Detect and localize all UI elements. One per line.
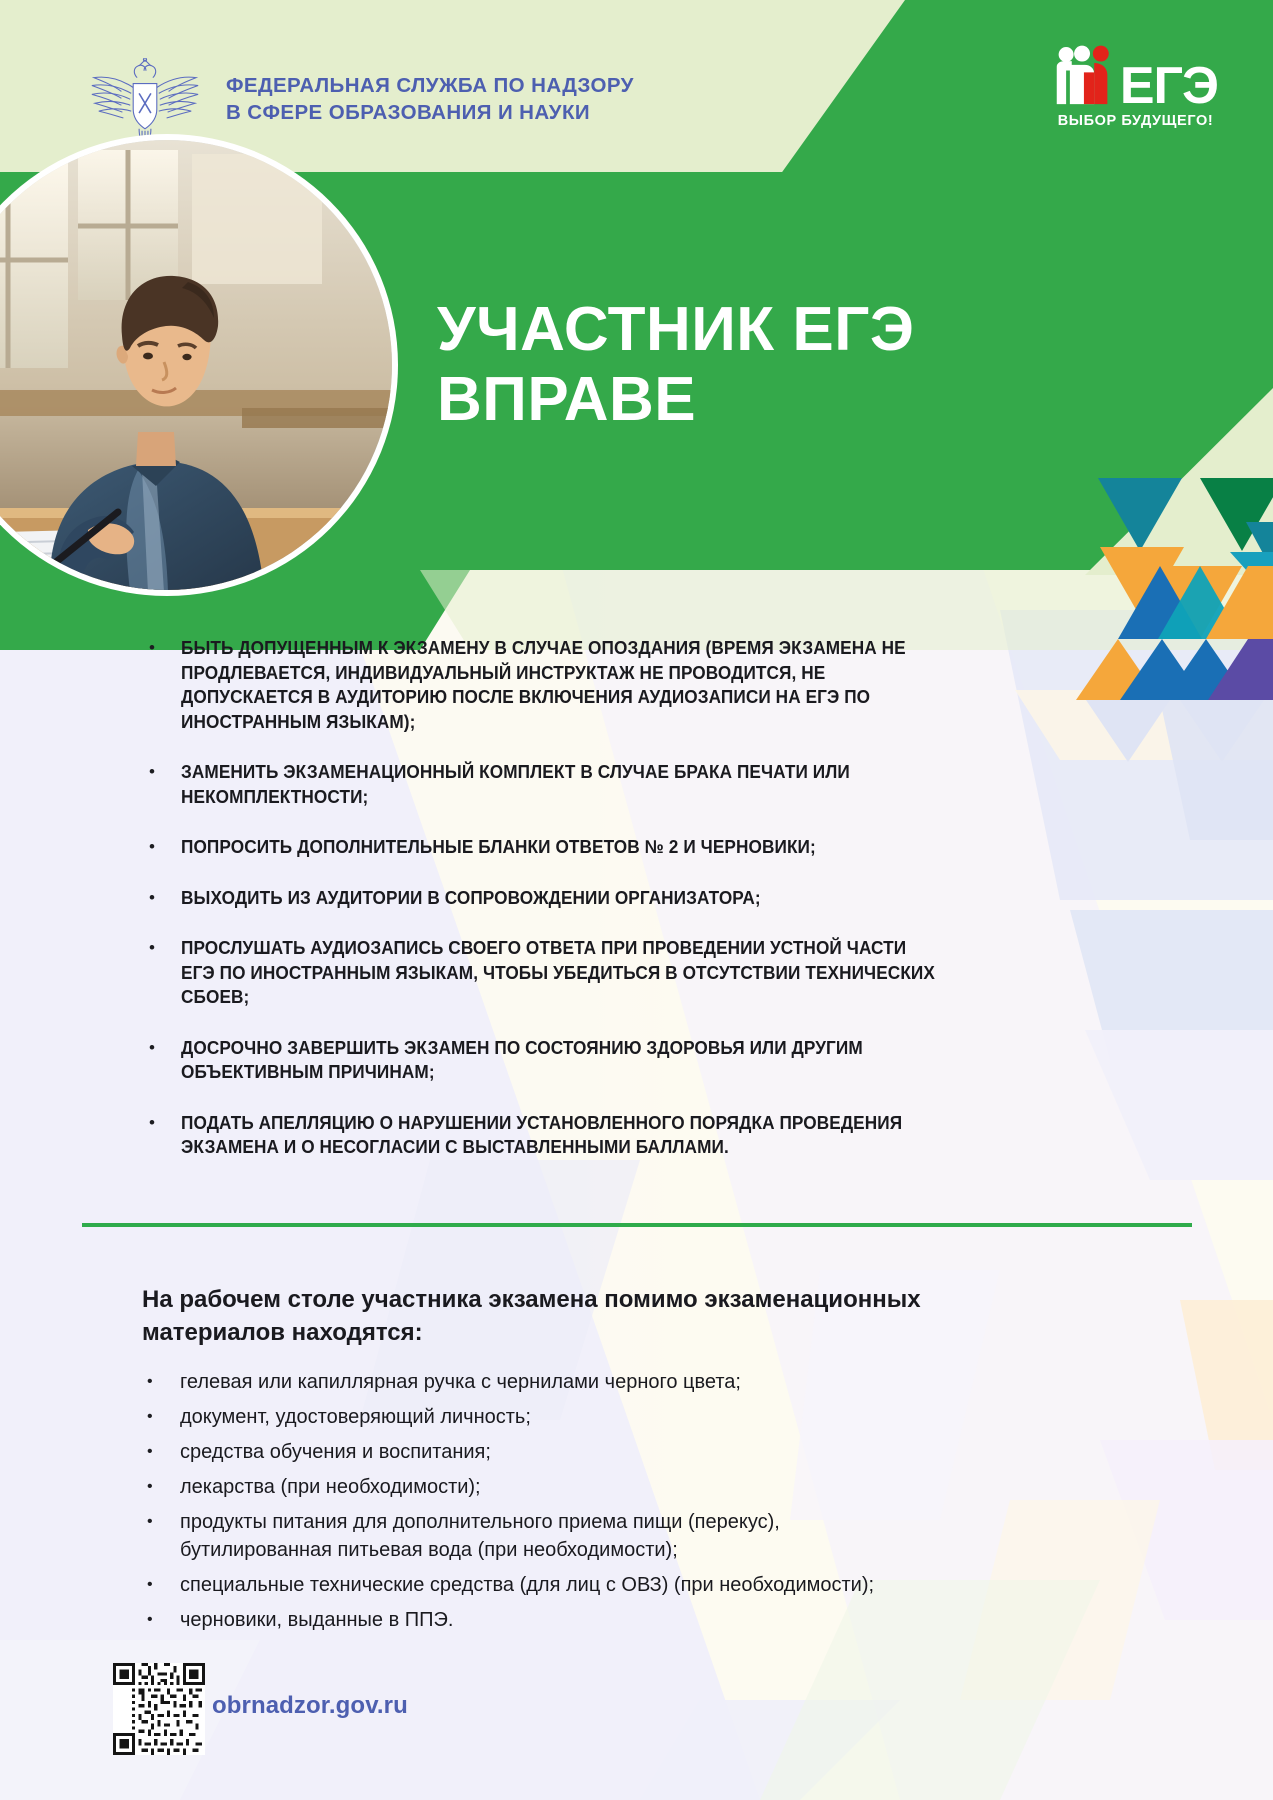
bullet-glyph: •: [140, 886, 181, 910]
qr-code[interactable]: [113, 1663, 205, 1755]
rights-item-text: ДОСРОЧНО ЗАВЕРШИТЬ ЭКЗАМЕН ПО СОСТОЯНИЮ …: [181, 1036, 943, 1085]
desk-list-item: • лекарства (при необходимости);: [140, 1473, 1040, 1501]
rights-list-item: • ДОСРОЧНО ЗАВЕРШИТЬ ЭКЗАМЕН ПО СОСТОЯНИ…: [140, 1036, 1000, 1085]
bullet-glyph: •: [140, 636, 181, 660]
rights-list-item: • ВЫХОДИТЬ ИЗ АУДИТОРИИ В СОПРОВОЖДЕНИИ …: [140, 886, 1000, 911]
rights-list-item: • ЗАМЕНИТЬ ЭКЗАМЕНАЦИОННЫЙ КОМПЛЕКТ В СЛ…: [140, 760, 1000, 809]
desk-list-item: • гелевая или капиллярная ручка с чернил…: [140, 1368, 1040, 1396]
desk-item-text: специальные технические средства (для ли…: [180, 1571, 1040, 1599]
desk-item-text: средства обучения и воспитания;: [180, 1438, 1040, 1466]
website-link[interactable]: obrnadzor.gov.ru: [212, 1692, 408, 1720]
desk-items-list: • гелевая или капиллярная ручка с чернил…: [140, 1368, 1040, 1641]
bullet-glyph: •: [140, 1606, 180, 1634]
desk-list-item: • документ, удостоверяющий личность;: [140, 1403, 1040, 1431]
desk-item-text: продукты питания для дополнительного при…: [180, 1508, 1040, 1564]
bullet-glyph: •: [140, 1571, 180, 1599]
bullet-glyph: •: [140, 1403, 180, 1431]
bullet-glyph: •: [140, 835, 181, 859]
bullet-glyph: •: [140, 1508, 180, 1536]
desk-list-item: • средства обучения и воспитания;: [140, 1438, 1040, 1466]
rights-item-text: ПОДАТЬ АПЕЛЛЯЦИЮ О НАРУШЕНИИ УСТАНОВЛЕНН…: [181, 1111, 943, 1160]
bullet-glyph: •: [140, 1438, 180, 1466]
desk-list-item: • продукты питания для дополнительного п…: [140, 1508, 1040, 1564]
desk-list-item: • черновики, выданные в ППЭ.: [140, 1606, 1040, 1634]
rights-item-text: ЗАМЕНИТЬ ЭКЗАМЕНАЦИОННЫЙ КОМПЛЕКТ В СЛУЧ…: [181, 760, 943, 809]
hero-section: УЧАСТНИК ЕГЭ ВПРАВЕ: [0, 0, 1273, 620]
rights-list-item: • БЫТЬ ДОПУЩЕННЫМ К ЭКЗАМЕНУ В СЛУЧАЕ ОП…: [140, 636, 1000, 734]
bullet-glyph: •: [140, 760, 181, 784]
student-photo: [0, 140, 392, 590]
rights-item-text: ВЫХОДИТЬ ИЗ АУДИТОРИИ В СОПРОВОЖДЕНИИ ОР…: [181, 886, 943, 911]
desk-item-text: лекарства (при необходимости);: [180, 1473, 1040, 1501]
poster-root: ФЕДЕРАЛЬНАЯ СЛУЖБА ПО НАДЗОРУ В СФЕРЕ ОБ…: [0, 0, 1273, 1800]
desk-item-text: гелевая или капиллярная ручка с чернилам…: [180, 1368, 1040, 1396]
desk-item-text: документ, удостоверяющий личность;: [180, 1403, 1040, 1431]
bullet-glyph: •: [140, 1368, 180, 1396]
bullet-glyph: •: [140, 1473, 180, 1501]
bullet-glyph: •: [140, 936, 181, 960]
bullet-glyph: •: [140, 1111, 181, 1135]
rights-item-text: ПОПРОСИТЬ ДОПОЛНИТЕЛЬНЫЕ БЛАНКИ ОТВЕТОВ …: [181, 835, 943, 860]
rights-list-item: • ПОДАТЬ АПЕЛЛЯЦИЮ О НАРУШЕНИИ УСТАНОВЛЕ…: [140, 1111, 1000, 1160]
page-title: УЧАСТНИК ЕГЭ ВПРАВЕ: [437, 295, 914, 435]
rights-list-item: • ПРОСЛУШАТЬ АУДИОЗАПИСЬ СВОЕГО ОТВЕТА П…: [140, 936, 1000, 1010]
rights-list-item: • ПОПРОСИТЬ ДОПОЛНИТЕЛЬНЫЕ БЛАНКИ ОТВЕТО…: [140, 835, 1000, 860]
desk-section-title: На рабочем столе участника экзамена поми…: [142, 1283, 1022, 1349]
section-divider: [82, 1223, 1192, 1227]
bullet-glyph: •: [140, 1036, 181, 1060]
rights-item-text: БЫТЬ ДОПУЩЕННЫМ К ЭКЗАМЕНУ В СЛУЧАЕ ОПОЗ…: [181, 636, 943, 734]
desk-item-text: черновики, выданные в ППЭ.: [180, 1606, 1040, 1634]
desk-list-item: • специальные технические средства (для …: [140, 1571, 1040, 1599]
rights-list: • БЫТЬ ДОПУЩЕННЫМ К ЭКЗАМЕНУ В СЛУЧАЕ ОП…: [140, 636, 1000, 1160]
rights-item-text: ПРОСЛУШАТЬ АУДИОЗАПИСЬ СВОЕГО ОТВЕТА ПРИ…: [181, 936, 943, 1010]
